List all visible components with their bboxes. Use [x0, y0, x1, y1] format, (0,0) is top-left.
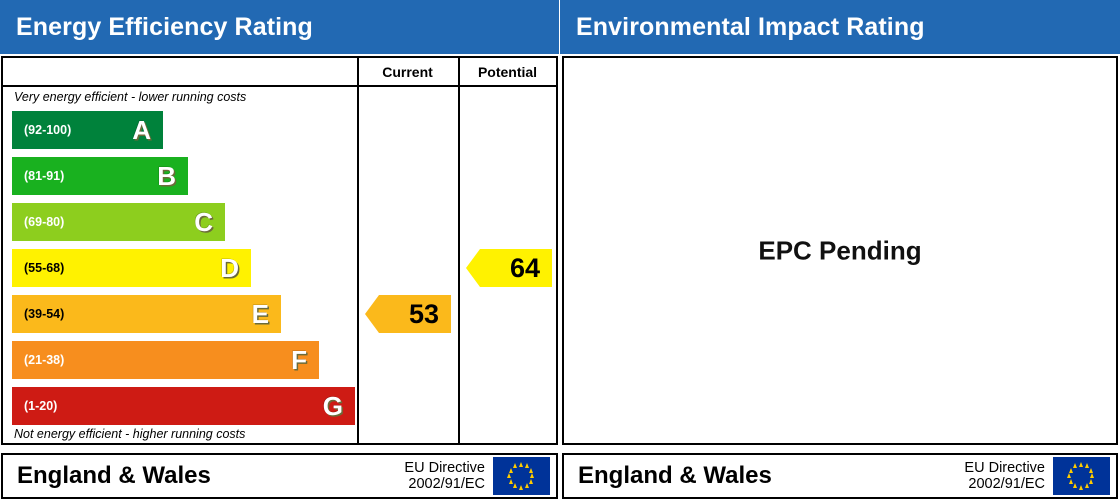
- band-e: (39-54)E: [12, 295, 281, 333]
- left-directive-line1: EU Directive: [404, 460, 485, 476]
- eu-flag-star: [509, 479, 513, 484]
- rating-arrow-current: 53: [365, 295, 451, 333]
- environmental-impact-header: Environmental Impact Rating: [560, 0, 1120, 54]
- band-d: (55-68)D: [12, 249, 251, 287]
- right-footer: England & Wales EU Directive 2002/91/EC: [562, 453, 1118, 499]
- eu-flag-star: [1067, 473, 1071, 478]
- eu-flag-star: [1073, 483, 1077, 488]
- right-directive-line1: EU Directive: [964, 460, 1045, 476]
- eu-flag-star: [530, 473, 534, 478]
- environmental-impact-box: EPC Pending: [562, 56, 1118, 445]
- right-footer-region: England & Wales: [578, 462, 964, 490]
- band-range-a: (92-100): [24, 124, 71, 137]
- column-header-row: Current Potential: [3, 58, 556, 87]
- rating-arrow-potential: 64: [466, 249, 552, 287]
- energy-efficiency-title: Energy Efficiency Rating: [16, 13, 313, 42]
- energy-efficiency-header: Energy Efficiency Rating: [0, 0, 559, 54]
- band-c: (69-80)C: [12, 203, 225, 241]
- band-f: (21-38)F: [12, 341, 319, 379]
- eu-flag-star: [529, 468, 533, 473]
- band-range-d: (55-68): [24, 262, 64, 275]
- right-footer-directive: EU Directive 2002/91/EC: [964, 460, 1045, 492]
- band-a: (92-100)A: [12, 111, 163, 149]
- left-directive-line2: 2002/91/EC: [408, 476, 485, 492]
- environmental-impact-panel: Environmental Impact Rating EPC Pending …: [560, 0, 1120, 500]
- band-g: (1-20)G: [12, 387, 355, 425]
- band-b: (81-91)B: [12, 157, 188, 195]
- epc-certificate: Energy Efficiency Rating Current Potenti…: [0, 0, 1120, 500]
- left-footer-directive: EU Directive 2002/91/EC: [404, 460, 485, 492]
- chart-divider-potential: [458, 87, 460, 443]
- rating-bands-area: Very energy efficient - lower running co…: [3, 87, 556, 443]
- eu-flag-star: [1069, 479, 1073, 484]
- eu-flag-star: [525, 483, 529, 488]
- eu-flag-star: [507, 473, 511, 478]
- eu-flag-star: [1073, 463, 1077, 468]
- eu-flag-star: [1079, 462, 1083, 467]
- eu-flag-icon: [493, 457, 550, 495]
- column-header-current: Current: [357, 58, 458, 87]
- band-letter-g: G: [323, 393, 343, 419]
- band-letter-f: F: [291, 347, 307, 373]
- left-footer: England & Wales EU Directive 2002/91/EC: [1, 453, 558, 499]
- caption-inefficient: Not energy efficient - higher running co…: [14, 427, 245, 441]
- eu-flag-star: [519, 462, 523, 467]
- eu-flag-star: [1079, 485, 1083, 490]
- eu-flag-star: [519, 485, 523, 490]
- eu-flag-star: [529, 479, 533, 484]
- band-letter-a: A: [132, 117, 151, 143]
- chart-divider-current: [357, 87, 359, 443]
- eu-flag-star: [1089, 479, 1093, 484]
- right-directive-line2: 2002/91/EC: [968, 476, 1045, 492]
- eu-flag-star: [1090, 473, 1094, 478]
- band-range-f: (21-38): [24, 354, 64, 367]
- epc-pending-text: EPC Pending: [564, 235, 1116, 266]
- left-footer-region: England & Wales: [17, 462, 404, 490]
- eu-flag-star: [513, 463, 517, 468]
- band-letter-e: E: [252, 301, 269, 327]
- band-range-e: (39-54): [24, 308, 64, 321]
- rating-value-potential: 64: [510, 255, 540, 282]
- caption-efficient: Very energy efficient - lower running co…: [14, 90, 246, 104]
- column-header-potential: Potential: [458, 58, 557, 87]
- eu-flag-star: [513, 483, 517, 488]
- band-letter-d: D: [220, 255, 239, 281]
- eu-flag-star: [1085, 483, 1089, 488]
- band-letter-b: B: [157, 163, 176, 189]
- energy-efficiency-chart-box: Current Potential Very energy efficient …: [1, 56, 558, 445]
- eu-flag-star: [1089, 468, 1093, 473]
- environmental-impact-title: Environmental Impact Rating: [576, 13, 925, 42]
- band-letter-c: C: [194, 209, 213, 235]
- band-range-g: (1-20): [24, 400, 57, 413]
- energy-efficiency-panel: Energy Efficiency Rating Current Potenti…: [0, 0, 559, 500]
- band-range-c: (69-80): [24, 216, 64, 229]
- rating-value-current: 53: [409, 301, 439, 328]
- band-range-b: (81-91): [24, 170, 64, 183]
- eu-flag-icon: [1053, 457, 1110, 495]
